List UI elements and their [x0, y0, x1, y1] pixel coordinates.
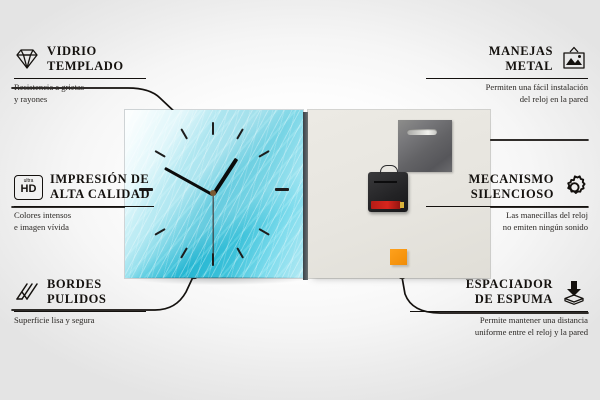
second-hand — [212, 195, 213, 255]
center-cap — [210, 190, 216, 196]
feature-description: Permite mantener una distancia uniforme … — [410, 315, 588, 339]
diamond-icon — [14, 47, 40, 71]
feature-description: Colores intensos e imagen vívida — [14, 210, 154, 234]
feature-title: ESPACIADOR DE ESPUMA — [410, 277, 553, 308]
mechanism-slot — [374, 181, 397, 183]
feature-title: MECANISMO SILENCIOSO — [426, 172, 554, 203]
title-underline — [410, 311, 588, 313]
gear-icon — [561, 174, 588, 200]
feature-title: BORDES PULIDOS — [47, 277, 106, 308]
picture-frame-hook-icon — [560, 46, 588, 72]
foam-spacer — [390, 249, 407, 265]
feature-vidrio-templado: VIDRIO TEMPLADO Resistencia a grietas y … — [14, 44, 146, 106]
mechanism-hook — [380, 165, 398, 174]
arrow-down-pad-icon — [560, 279, 588, 305]
hour-tick — [212, 253, 214, 266]
clock-drop-shadow — [128, 277, 310, 285]
title-underline — [14, 311, 146, 313]
title-underline — [426, 206, 588, 208]
title-underline — [14, 78, 146, 80]
battery — [371, 201, 401, 209]
feature-title: MANEJAS METAL — [426, 44, 553, 75]
clock-mechanism — [368, 172, 408, 212]
diagonal-lines-icon — [14, 280, 40, 304]
feature-description: Permiten una fácil instalación del reloj… — [426, 82, 588, 106]
feature-description: Resistencia a grietas y rayones — [14, 82, 146, 106]
feature-bordes-pulidos: BORDES PULIDOS Superficie lisa y segura — [14, 277, 146, 327]
feature-title: IMPRESIÓN DE ALTA CALIDAD — [50, 172, 150, 203]
metal-hanger-plate — [398, 120, 452, 172]
hour-tick — [212, 122, 214, 135]
feature-mecanismo-silencioso: MECANISMO SILENCIOSO Las manecillas del … — [426, 172, 588, 234]
ultra-hd-icon-large-text: HD — [21, 184, 37, 195]
title-underline — [426, 78, 588, 80]
infographic-canvas: VIDRIO TEMPLADO Resistencia a grietas y … — [0, 0, 600, 400]
hanger-slot — [407, 129, 437, 135]
feature-title: VIDRIO TEMPLADO — [47, 44, 124, 75]
title-underline — [14, 206, 154, 208]
hour-tick — [275, 188, 289, 191]
feature-manejas-metal: MANEJAS METAL Permiten una fácil instala… — [426, 44, 588, 106]
feature-espaciador-espuma: ESPACIADOR DE ESPUMA Permite mantener un… — [410, 277, 588, 339]
feature-description: Las manecillas del reloj no emiten ningú… — [426, 210, 588, 234]
ultra-hd-icon: ultra HD — [14, 175, 43, 200]
feature-impresion-alta-calidad: ultra HD IMPRESIÓN DE ALTA CALIDAD Color… — [14, 172, 154, 234]
feature-description: Superficie lisa y segura — [14, 315, 146, 327]
